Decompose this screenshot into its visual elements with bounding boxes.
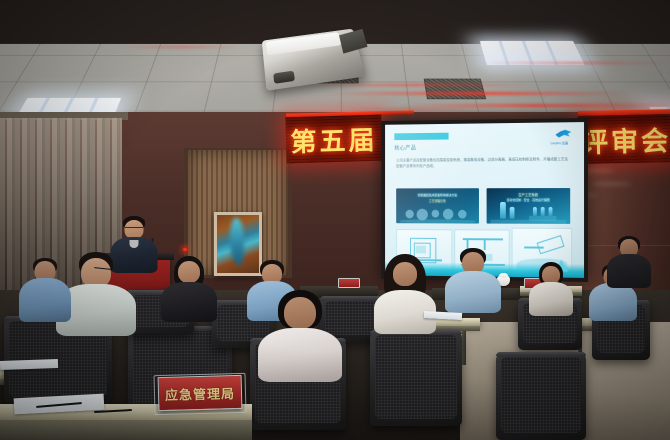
led-ceiling-reflection — [340, 108, 490, 110]
slide-title: 核心产品 — [394, 144, 416, 152]
audience-member — [18, 258, 72, 320]
panel-subcaption: 自动化控制 · 安全 · 高效运行保障 — [507, 198, 550, 202]
panel-industrial-plant: 智能撬装集成装备整体解决方案 工艺流程示意 — [396, 188, 479, 223]
logo-text: GAOPU 高浦 — [551, 141, 568, 145]
presenter-glasses-icon — [125, 227, 143, 232]
ceiling-air-vent — [424, 79, 486, 100]
office-chair[interactable] — [496, 352, 586, 440]
led-ceiling-reflection — [400, 104, 670, 107]
panel-caption: 生产工艺系统 — [518, 192, 538, 197]
slide-body-text: 公司主要产品及配套设备包括智能控制系统、撬装集成设备、过滤分离器、高低压控制柜及… — [396, 156, 570, 169]
office-chair[interactable] — [370, 330, 462, 426]
conference-room-scene: 第五届 评审会 核心产品 公司主要产品及配套设备包括智能控制系统、撬装集成设备、… — [0, 0, 670, 440]
audience-member — [256, 290, 344, 376]
led-ceiling-reflection — [300, 84, 530, 86]
audience-member — [372, 254, 438, 330]
led-banner-left-text: 第五届 — [290, 119, 378, 158]
audience-member — [528, 262, 574, 312]
led-banner-left[interactable]: 第五届 — [285, 115, 382, 164]
panel-caption: 智能撬装集成装备整体解决方案 — [418, 193, 458, 197]
led-ceiling-reflection — [480, 62, 670, 64]
led-banner-right[interactable]: 评审会 — [578, 114, 670, 164]
audience-member — [444, 248, 502, 310]
led-ceiling-reflection — [120, 46, 240, 48]
slide-accent-bar — [394, 133, 448, 140]
company-logo: GAOPU 高浦 — [551, 129, 577, 145]
logo-mark-icon — [555, 129, 571, 138]
audience-member — [160, 256, 218, 318]
audience-member — [606, 236, 652, 284]
nameplate-holder — [153, 373, 246, 415]
nameplate-secondary-left — [338, 278, 360, 288]
desk-leg — [462, 331, 466, 365]
panel-production-system: 生产工艺系统 自动化控制 · 安全 · 高效运行保障 — [487, 188, 571, 224]
podium-indicator-light — [183, 248, 187, 251]
desk-edge — [0, 420, 252, 440]
led-ceiling-reflection — [330, 92, 630, 95]
led-banner-right-text: 评审会 — [581, 119, 670, 160]
panel-subcaption: 工艺流程示意 — [429, 199, 446, 203]
